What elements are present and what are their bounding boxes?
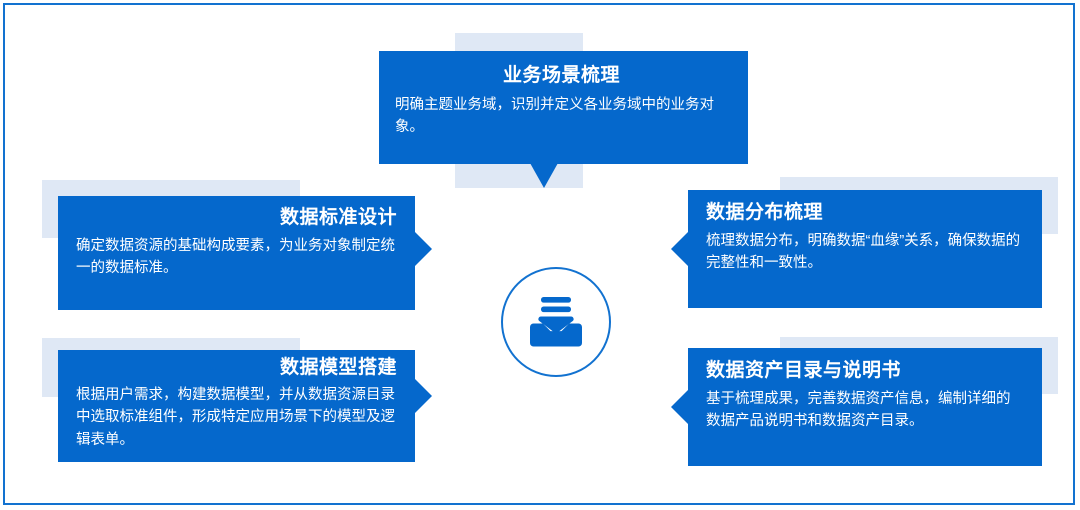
arrow-left-icon-right-top — [671, 232, 688, 266]
node-desc-left-bottom: 根据用户需求，构建数据模型，并从数据资源目录中选取标准组件，形成特定应用场景下的… — [76, 384, 397, 451]
node-desc-right-bottom: 基于梳理成果，完善数据资产信息，编制详细的数据产品说明书和数据资产目录。 — [706, 388, 1024, 433]
node-desc-left-top: 确定数据资源的基础构成要素，为业务对象制定统一的数据标准。 — [76, 235, 397, 280]
node-title-left-bottom: 数据模型搭建 — [76, 356, 397, 380]
node-card-data-model-building[interactable]: 数据模型搭建 根据用户需求，构建数据模型，并从数据资源目录中选取标准组件，形成特… — [58, 350, 415, 462]
arrow-down-icon-top — [530, 163, 558, 188]
arrow-right-icon-left-bottom — [415, 379, 432, 413]
node-desc-top: 明确主题业务域，识别并定义各业务域中的业务对象。 — [395, 94, 728, 139]
arrow-left-icon-right-bottom — [671, 390, 688, 424]
node-title-left-top: 数据标准设计 — [76, 206, 397, 230]
node-title-right-top: 数据分布梳理 — [706, 201, 1024, 225]
center-hub-circle — [501, 267, 611, 377]
node-title-right-bottom: 数据资产目录与说明书 — [706, 359, 1024, 383]
diagram-canvas: 业务场景梳理 明确主题业务域，识别并定义各业务域中的业务对象。 数据标准设计 确… — [0, 0, 1080, 510]
node-desc-right-top: 梳理数据分布，明确数据“血缘”关系，确保数据的完整性和一致性。 — [706, 230, 1024, 275]
node-card-business-scenario[interactable]: 业务场景梳理 明确主题业务域，识别并定义各业务域中的业务对象。 — [379, 51, 748, 164]
node-title-top: 业务场景梳理 — [395, 64, 728, 88]
node-card-data-distribution[interactable]: 数据分布梳理 梳理数据分布，明确数据“血缘”关系，确保数据的完整性和一致性。 — [688, 190, 1042, 308]
inbox-archive-icon — [528, 296, 584, 348]
arrow-right-icon-left-top — [415, 232, 432, 266]
node-card-data-asset-catalog[interactable]: 数据资产目录与说明书 基于梳理成果，完善数据资产信息，编制详细的数据产品说明书和… — [688, 348, 1042, 466]
node-card-data-standard-design[interactable]: 数据标准设计 确定数据资源的基础构成要素，为业务对象制定统一的数据标准。 — [58, 196, 415, 310]
